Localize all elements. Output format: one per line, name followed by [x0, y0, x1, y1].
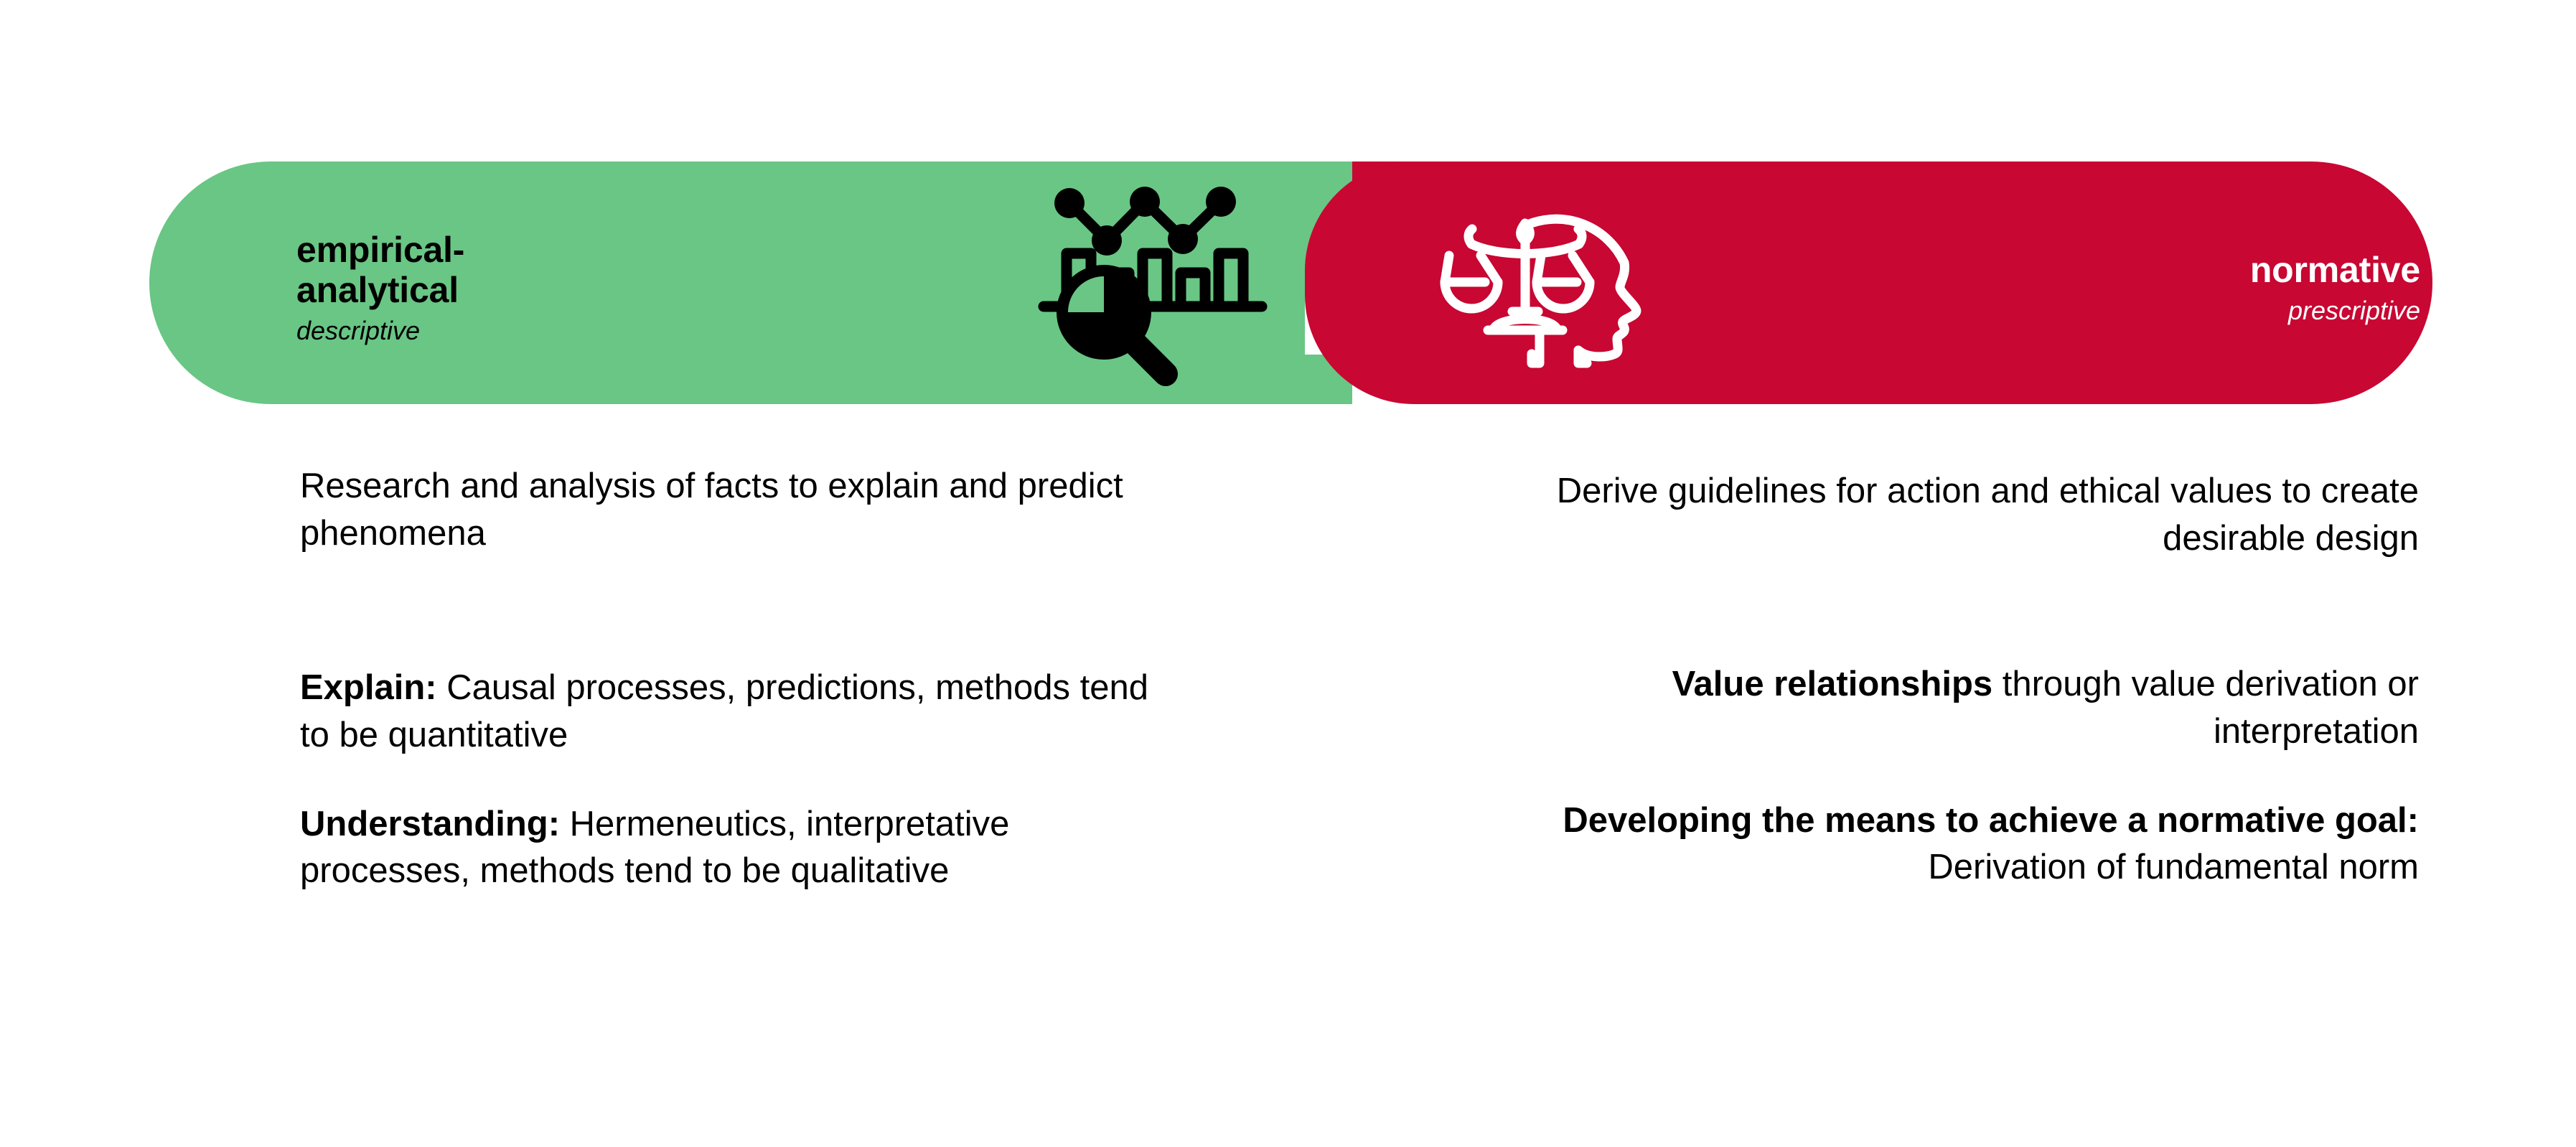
left-column: Research and analysis of facts to explai…	[300, 463, 1176, 895]
left-banner-subtitle: descriptive	[296, 318, 464, 344]
right-value-relationships-lead: Value relationships	[1672, 665, 1993, 703]
right-value-relationships-body: through value derivation or interpretati…	[1992, 665, 2419, 751]
right-value-relationships-paragraph: Value relationships through value deriva…	[1529, 661, 2419, 755]
right-normative-goal-paragraph: Developing the means to achieve a normat…	[1529, 797, 2419, 891]
diagram-canvas: empirical- analytical descriptive normat…	[0, 0, 2576, 1147]
left-understanding-lead: Understanding:	[300, 805, 560, 843]
ethics-head-scales-icon	[1432, 178, 1662, 393]
right-summary-paragraph: Derive guidelines for action and ethical…	[1529, 468, 2419, 562]
right-banner-subtitle: prescriptive	[2250, 298, 2420, 324]
left-summary-paragraph: Research and analysis of facts to explai…	[300, 463, 1176, 557]
left-banner-label: empirical- analytical descriptive	[296, 230, 464, 344]
left-explain-lead: Explain:	[300, 668, 437, 707]
left-banner-title: empirical- analytical	[296, 230, 464, 310]
right-normative-goal-lead: Developing the means to achieve a normat…	[1563, 801, 2419, 840]
data-analysis-icon	[1032, 176, 1276, 391]
right-normative-goal-body: Derivation of fundamental norm	[1928, 848, 2419, 886]
left-explain-paragraph: Explain: Causal processes, predictions, …	[300, 665, 1176, 759]
right-column: Derive guidelines for action and ethical…	[1529, 468, 2419, 891]
right-banner-title: normative	[2250, 250, 2420, 290]
right-banner-label: normative prescriptive	[2250, 250, 2420, 324]
left-understanding-paragraph: Understanding: Hermeneutics, interpretat…	[300, 801, 1176, 895]
